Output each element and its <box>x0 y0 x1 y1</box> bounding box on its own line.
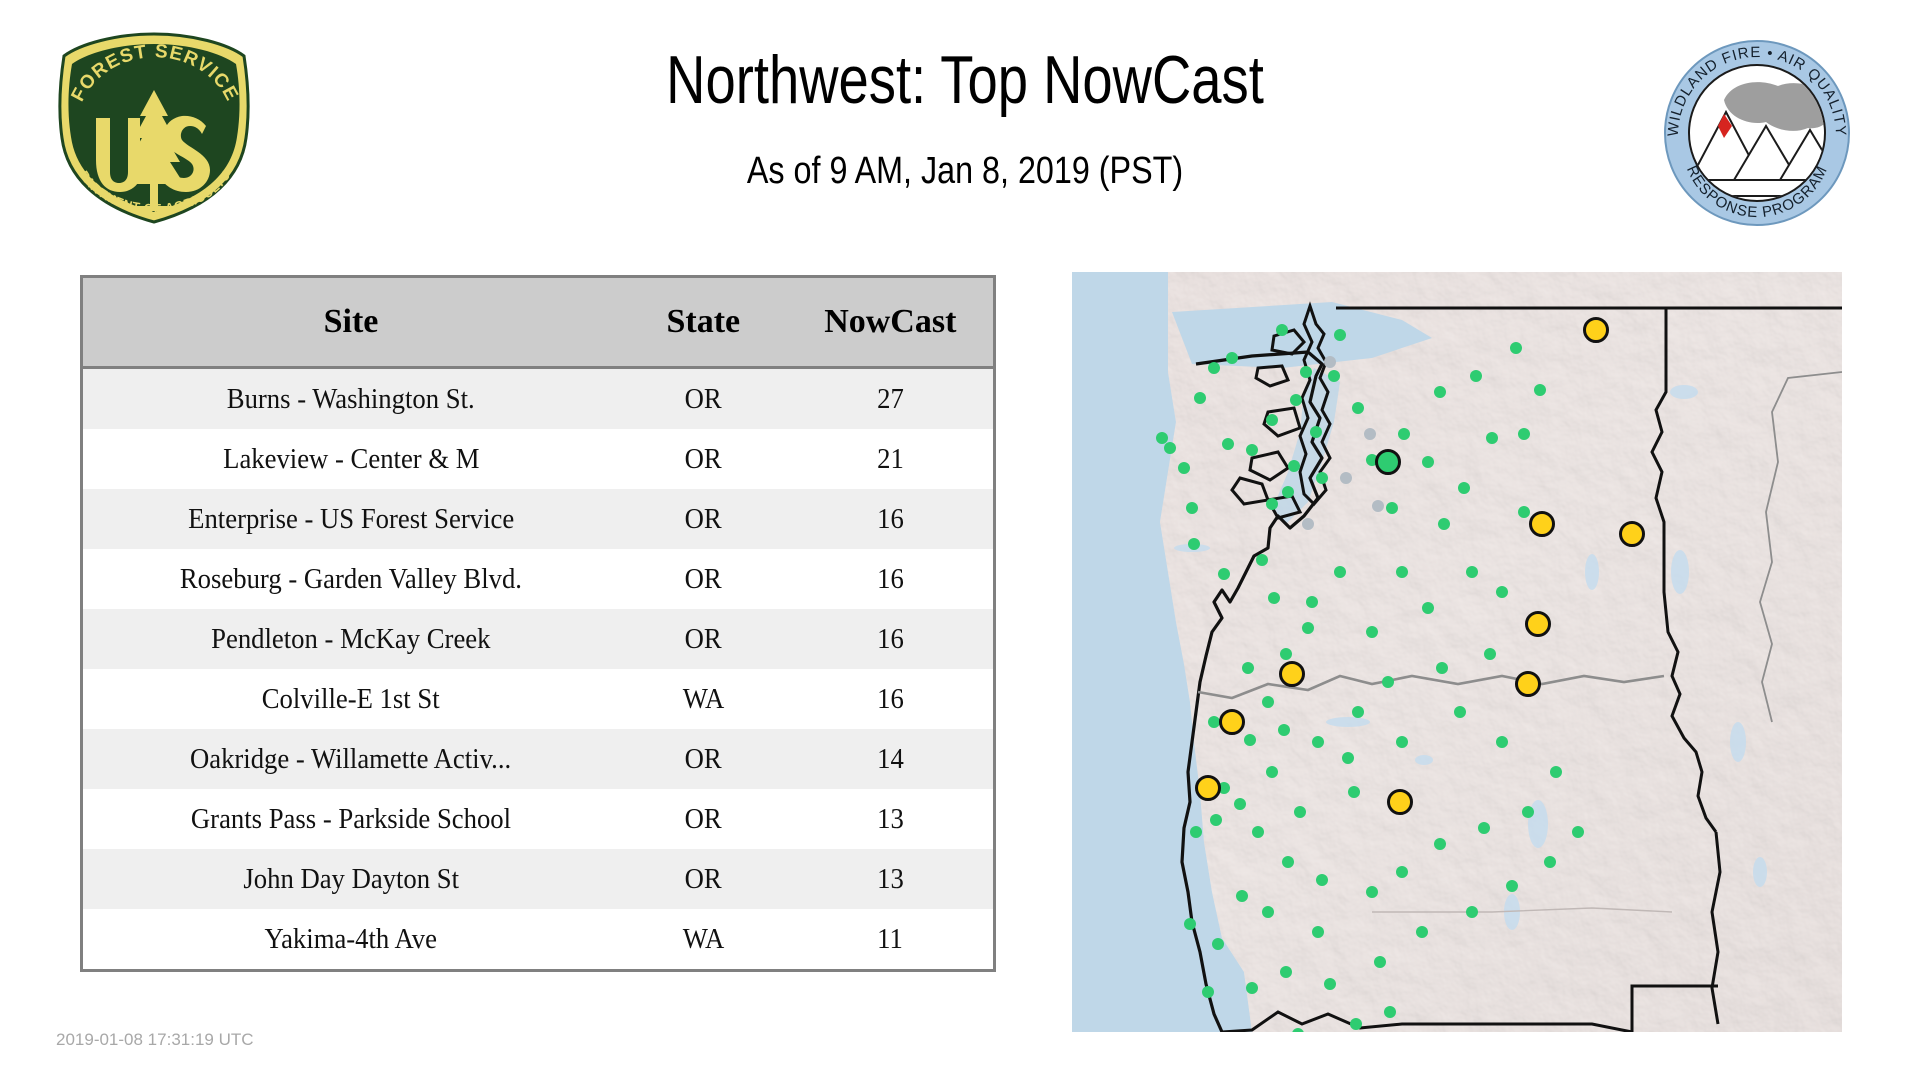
map-marker-green[interactable] <box>1518 506 1530 518</box>
cell-nowcast-text: 27 <box>877 383 904 416</box>
map-marker-green[interactable] <box>1222 438 1234 450</box>
map-marker-green[interactable] <box>1226 352 1238 364</box>
cell-nowcast: 16 <box>788 609 993 669</box>
map-marker-green[interactable] <box>1218 568 1230 580</box>
map-marker-green[interactable] <box>1350 1018 1362 1030</box>
cell-nowcast-text: 11 <box>877 923 903 956</box>
map-marker-green[interactable] <box>1506 880 1518 892</box>
cell-site: Lakeview - Center & M <box>83 429 619 489</box>
map-marker-green[interactable] <box>1434 386 1446 398</box>
table-row[interactable]: Oakridge - Willamette Activ...OR14 <box>83 729 993 789</box>
map-marker-yellow[interactable] <box>1515 671 1541 697</box>
cell-site-text: Oakridge - Willamette Activ... <box>190 743 511 776</box>
map-marker-green[interactable] <box>1190 826 1202 838</box>
cell-site-text: Enterprise - US Forest Service <box>188 503 514 536</box>
table-row[interactable]: Colville-E 1st StWA16 <box>83 669 993 729</box>
cell-state: OR <box>619 549 788 609</box>
map-marker-green[interactable] <box>1396 736 1408 748</box>
map-marker-green[interactable] <box>1236 890 1248 902</box>
map-marker-green[interactable] <box>1544 856 1556 868</box>
cell-site-text: John Day Dayton St <box>243 863 459 896</box>
map-marker-green[interactable] <box>1466 566 1478 578</box>
map-marker-green[interactable] <box>1316 472 1328 484</box>
table-row[interactable]: John Day Dayton StOR13 <box>83 849 993 909</box>
page-title: Northwest: Top NowCast <box>433 46 1497 114</box>
map-marker-green[interactable] <box>1496 586 1508 598</box>
table-row[interactable]: Enterprise - US Forest ServiceOR16 <box>83 489 993 549</box>
nowcast-table-container: Site State NowCast Burns - Washington St… <box>80 275 996 972</box>
nowcast-table: Site State NowCast Burns - Washington St… <box>83 278 993 969</box>
map-marker-green[interactable] <box>1242 662 1254 674</box>
map-marker-grey[interactable] <box>1340 472 1352 484</box>
cell-state: OR <box>619 849 788 909</box>
map-marker-green[interactable] <box>1312 926 1324 938</box>
map-marker-green[interactable] <box>1366 886 1378 898</box>
map-marker-green[interactable] <box>1470 370 1482 382</box>
map-marker-green[interactable] <box>1522 806 1534 818</box>
cell-nowcast: 14 <box>788 729 993 789</box>
wildland-fire-air-quality-logo: WILDLAND FIRE • AIR QUALITY RESPONSE PRO… <box>1662 38 1852 228</box>
map-marker-green[interactable] <box>1186 502 1198 514</box>
map-marker-green[interactable] <box>1384 1006 1396 1018</box>
map-marker-green[interactable] <box>1396 566 1408 578</box>
us-forest-service-logo: FOREST SERVICE DEPARTMENT OF AGRICULTURE <box>52 30 257 226</box>
map-marker-green[interactable] <box>1466 906 1478 918</box>
map-marker-green[interactable] <box>1510 342 1522 354</box>
map-marker-green[interactable] <box>1246 444 1258 456</box>
cell-site: Pendleton - McKay Creek <box>83 609 619 669</box>
map-marker-green[interactable] <box>1366 626 1378 638</box>
cell-site: Grants Pass - Parkside School <box>83 789 619 849</box>
map-marker-green[interactable] <box>1422 456 1434 468</box>
cell-site: Yakima-4th Ave <box>83 909 619 969</box>
map-marker-green[interactable] <box>1268 592 1280 604</box>
map-marker-green[interactable] <box>1280 648 1292 660</box>
map-marker-green[interactable] <box>1256 554 1268 566</box>
map-marker-green[interactable] <box>1262 696 1274 708</box>
cell-state: OR <box>619 368 788 430</box>
map-marker-green[interactable] <box>1194 392 1206 404</box>
map-marker-yellow[interactable] <box>1279 661 1305 687</box>
map-marker-yellow[interactable] <box>1219 709 1245 735</box>
map-marker-yellow[interactable] <box>1387 789 1413 815</box>
cell-nowcast-text: 13 <box>877 863 904 896</box>
cell-state: OR <box>619 609 788 669</box>
map-marker-grey[interactable] <box>1324 356 1336 368</box>
table-body: Burns - Washington St.OR27Lakeview - Cen… <box>83 368 993 970</box>
cell-state-text: OR <box>685 563 722 596</box>
cell-site-text: Grants Pass - Parkside School <box>191 803 511 836</box>
map-marker-green[interactable] <box>1278 724 1290 736</box>
cell-nowcast: 21 <box>788 429 993 489</box>
cell-state-text: OR <box>685 803 722 836</box>
cell-state: OR <box>619 429 788 489</box>
cell-site: Burns - Washington St. <box>83 368 619 430</box>
cell-nowcast-text: 16 <box>877 563 904 596</box>
map-marker-green[interactable] <box>1478 822 1490 834</box>
map-marker-green[interactable] <box>1306 596 1318 608</box>
map-marker-green[interactable] <box>1572 826 1584 838</box>
map-marker-green[interactable] <box>1486 432 1498 444</box>
map-marker-grey[interactable] <box>1302 518 1314 530</box>
map-marker-green[interactable] <box>1352 706 1364 718</box>
cell-nowcast-text: 13 <box>877 803 904 836</box>
cell-state-text: WA <box>683 923 725 956</box>
map-marker-green[interactable] <box>1334 566 1346 578</box>
cell-state: WA <box>619 669 788 729</box>
map-marker-green[interactable] <box>1434 838 1446 850</box>
cell-state-text: OR <box>685 443 722 476</box>
cell-nowcast: 13 <box>788 849 993 909</box>
cell-site-text: Burns - Washington St. <box>227 383 475 416</box>
pacific-northwest-map[interactable] <box>1072 272 1842 1032</box>
map-marker-green[interactable] <box>1438 518 1450 530</box>
map-marker-green[interactable] <box>1266 498 1278 510</box>
column-header-site[interactable]: Site <box>83 278 619 368</box>
cell-state-text: OR <box>685 623 722 656</box>
map-marker-green[interactable] <box>1312 736 1324 748</box>
cell-nowcast: 13 <box>788 789 993 849</box>
map-marker-green[interactable] <box>1396 866 1408 878</box>
table-row[interactable]: Pendleton - McKay CreekOR16 <box>83 609 993 669</box>
map-marker-green[interactable] <box>1282 486 1294 498</box>
map-marker-green-highlighted[interactable] <box>1375 449 1401 475</box>
table-header-row: Site State NowCast <box>83 278 993 368</box>
map-marker-green[interactable] <box>1252 826 1264 838</box>
map-marker-green[interactable] <box>1202 986 1214 998</box>
table-row[interactable]: Grants Pass - Parkside SchoolOR13 <box>83 789 993 849</box>
cell-nowcast-text: 16 <box>877 623 904 656</box>
map-marker-green[interactable] <box>1386 502 1398 514</box>
map-marker-green[interactable] <box>1178 462 1190 474</box>
map-marker-green[interactable] <box>1276 324 1288 336</box>
generation-timestamp: 2019-01-08 17:31:19 UTC <box>56 1030 254 1050</box>
map-marker-green[interactable] <box>1244 734 1256 746</box>
cell-nowcast-text: 14 <box>877 743 904 776</box>
map-marker-green[interactable] <box>1454 706 1466 718</box>
map-marker-green[interactable] <box>1550 766 1562 778</box>
page-header: FOREST SERVICE DEPARTMENT OF AGRICULTURE… <box>0 0 1920 250</box>
map-marker-green[interactable] <box>1262 906 1274 918</box>
map-marker-green[interactable] <box>1352 402 1364 414</box>
map-marker-green[interactable] <box>1210 814 1222 826</box>
cell-state: OR <box>619 789 788 849</box>
map-marker-yellow[interactable] <box>1529 511 1555 537</box>
map-marker-green[interactable] <box>1266 766 1278 778</box>
cell-nowcast: 27 <box>788 368 993 430</box>
cell-site: Oakridge - Willamette Activ... <box>83 729 619 789</box>
cell-nowcast: 16 <box>788 489 993 549</box>
map-marker-green[interactable] <box>1212 938 1224 950</box>
map-marker-green[interactable] <box>1496 736 1508 748</box>
cell-nowcast: 11 <box>788 909 993 969</box>
map-marker-green[interactable] <box>1484 648 1496 660</box>
map-marker-green[interactable] <box>1280 966 1292 978</box>
cell-state-text: OR <box>685 863 722 896</box>
map-marker-green[interactable] <box>1184 918 1196 930</box>
map-marker-green[interactable] <box>1382 676 1394 688</box>
map-marker-green[interactable] <box>1342 752 1354 764</box>
cell-site-text: Yakima-4th Ave <box>265 923 437 956</box>
cell-site: Roseburg - Garden Valley Blvd. <box>83 549 619 609</box>
map-marker-green[interactable] <box>1282 856 1294 868</box>
map-marker-green[interactable] <box>1374 956 1386 968</box>
cell-nowcast: 16 <box>788 669 993 729</box>
map-marker-green[interactable] <box>1422 602 1434 614</box>
cell-site: Colville-E 1st St <box>83 669 619 729</box>
map-marker-green[interactable] <box>1302 622 1314 634</box>
table-row[interactable]: Yakima-4th AveWA11 <box>83 909 993 969</box>
map-marker-green[interactable] <box>1234 798 1246 810</box>
table-row[interactable]: Lakeview - Center & MOR21 <box>83 429 993 489</box>
map-marker-green[interactable] <box>1266 414 1278 426</box>
cell-state-text: OR <box>685 503 722 536</box>
map-marker-green[interactable] <box>1300 366 1312 378</box>
cell-site: John Day Dayton St <box>83 849 619 909</box>
cell-nowcast-text: 21 <box>877 443 904 476</box>
cell-site-text: Roseburg - Garden Valley Blvd. <box>180 563 522 596</box>
map-marker-green[interactable] <box>1534 384 1546 396</box>
cell-state-text: OR <box>685 383 722 416</box>
map-marker-green[interactable] <box>1334 329 1346 341</box>
map-marker-green[interactable] <box>1416 926 1428 938</box>
cell-site-text: Colville-E 1st St <box>262 683 440 716</box>
map-marker-green[interactable] <box>1246 982 1258 994</box>
map-marker-yellow[interactable] <box>1525 611 1551 637</box>
map-marker-grey[interactable] <box>1364 428 1376 440</box>
map-marker-grey[interactable] <box>1372 500 1384 512</box>
map-marker-green[interactable] <box>1348 786 1360 798</box>
cell-state-text: WA <box>683 683 725 716</box>
map-marker-green[interactable] <box>1436 662 1448 674</box>
cell-state: WA <box>619 909 788 969</box>
cell-site: Enterprise - US Forest Service <box>83 489 619 549</box>
map-marker-green[interactable] <box>1316 874 1328 886</box>
map-marker-green[interactable] <box>1328 370 1340 382</box>
map-marker-yellow[interactable] <box>1583 317 1609 343</box>
cell-nowcast: 16 <box>788 549 993 609</box>
table-row[interactable]: Roseburg - Garden Valley Blvd.OR16 <box>83 549 993 609</box>
map-marker-green[interactable] <box>1310 426 1322 438</box>
map-marker-green[interactable] <box>1290 394 1302 406</box>
map-marker-green[interactable] <box>1208 362 1220 374</box>
column-header-state[interactable]: State <box>619 278 788 368</box>
cell-nowcast-text: 16 <box>877 683 904 716</box>
page-subtitle: As of 9 AM, Jan 8, 2019 (PST) <box>400 152 1531 190</box>
table-row[interactable]: Burns - Washington St.OR27 <box>83 368 993 430</box>
map-marker-green[interactable] <box>1164 442 1176 454</box>
column-header-nowcast[interactable]: NowCast <box>788 278 993 368</box>
map-marker-yellow[interactable] <box>1195 775 1221 801</box>
cell-nowcast-text: 16 <box>877 503 904 536</box>
cell-state: OR <box>619 729 788 789</box>
map-marker-green[interactable] <box>1398 428 1410 440</box>
map-marker-green[interactable] <box>1518 428 1530 440</box>
map-marker-green[interactable] <box>1188 538 1200 550</box>
cell-state: OR <box>619 489 788 549</box>
cell-site-text: Lakeview - Center & M <box>223 443 479 476</box>
map-marker-green[interactable] <box>1324 978 1336 990</box>
map-marker-green[interactable] <box>1288 460 1300 472</box>
map-marker-green[interactable] <box>1458 482 1470 494</box>
map-marker-yellow[interactable] <box>1619 521 1645 547</box>
map-marker-green[interactable] <box>1294 806 1306 818</box>
table-header: Site State NowCast <box>83 278 993 368</box>
cell-site-text: Pendleton - McKay Creek <box>211 623 490 656</box>
cell-state-text: OR <box>685 743 722 776</box>
title-block: Northwest: Top NowCast As of 9 AM, Jan 8… <box>300 46 1630 190</box>
